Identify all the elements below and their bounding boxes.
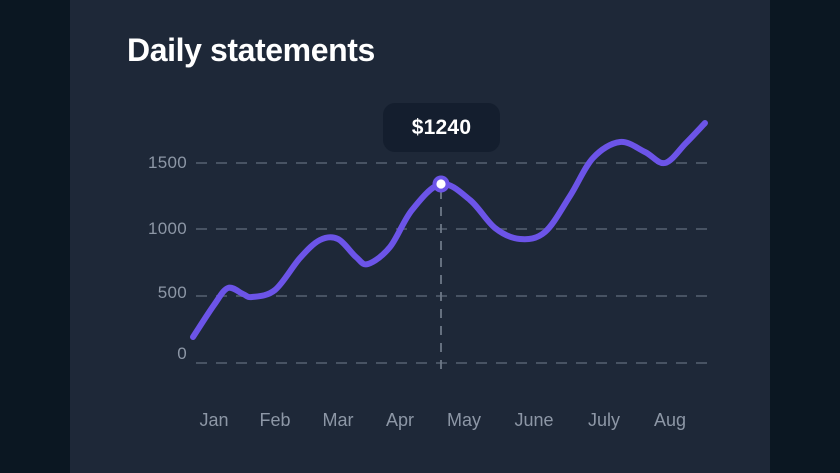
- x-tick-mar: Mar: [323, 410, 354, 431]
- x-tick-july: July: [588, 410, 620, 431]
- tooltip-value: $1240: [412, 116, 471, 140]
- y-tick-1000: 1000: [127, 219, 187, 239]
- x-tick-aug: Aug: [654, 410, 686, 431]
- gridlines: [196, 163, 707, 363]
- chart-card: Daily statements: [70, 0, 770, 473]
- y-axis: 1500 1000 500 0: [70, 0, 187, 473]
- data-line-series: [193, 123, 705, 337]
- value-tooltip: $1240: [383, 103, 500, 152]
- x-tick-jan: Jan: [199, 410, 228, 431]
- x-tick-june: June: [514, 410, 553, 431]
- x-axis: Jan Feb Mar Apr May June July Aug: [70, 410, 770, 440]
- x-tick-apr: Apr: [386, 410, 414, 431]
- y-tick-1500: 1500: [127, 153, 187, 173]
- x-tick-feb: Feb: [259, 410, 290, 431]
- app-root: Daily statements: [0, 0, 840, 473]
- data-point-dot: [436, 179, 445, 188]
- data-point-marker[interactable]: [433, 176, 450, 193]
- x-tick-may: May: [447, 410, 481, 431]
- y-tick-0: 0: [127, 344, 187, 364]
- chart-plot-area[interactable]: 1500 1000 500 0 Jan Feb Mar Apr May June…: [70, 0, 770, 473]
- y-tick-500: 500: [127, 283, 187, 303]
